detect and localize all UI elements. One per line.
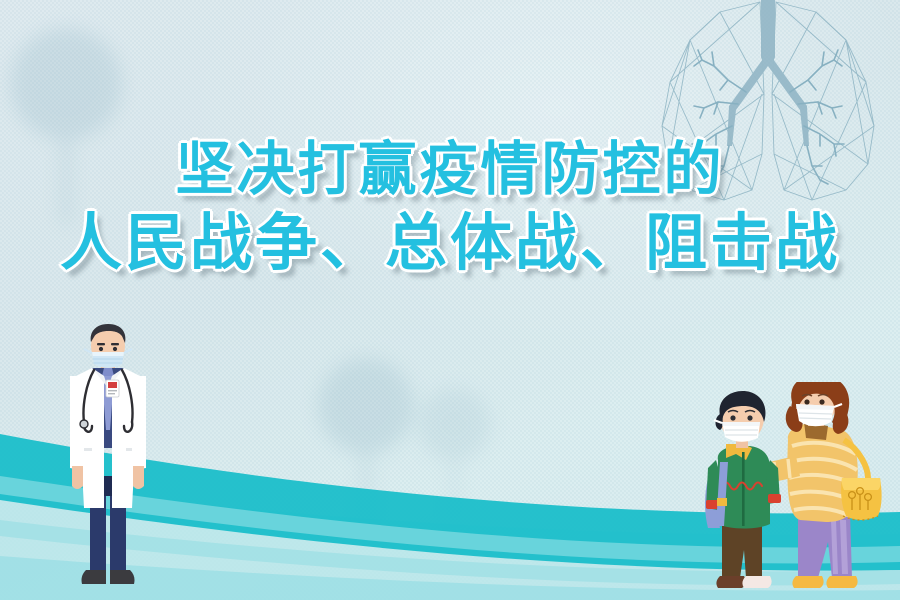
- boy-figure: [705, 391, 781, 588]
- doctor-illustration: [48, 318, 168, 600]
- poster-canvas: 坚决打赢疫情防控的 人民战争、总体战、阻击战: [0, 0, 900, 600]
- family-illustration: [700, 382, 900, 600]
- lungs-wireframe-icon: [628, 0, 900, 224]
